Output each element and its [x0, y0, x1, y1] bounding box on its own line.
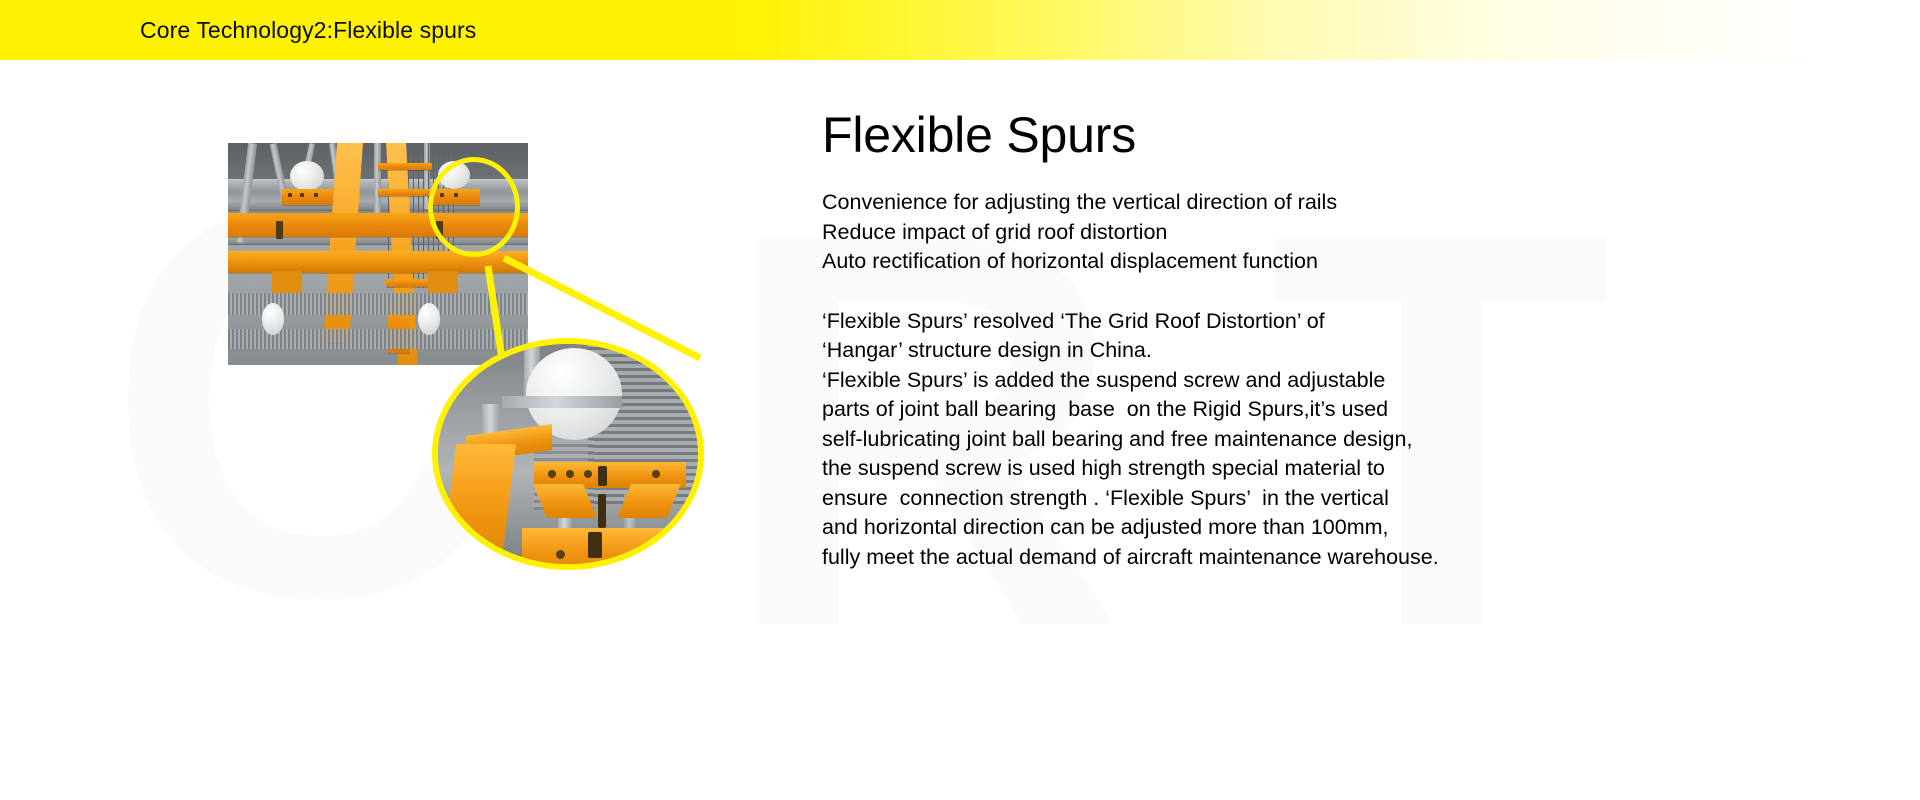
- header-title: Core Technology2:Flexible spurs: [140, 0, 476, 60]
- zoom-bolt: [652, 470, 660, 478]
- zoom-bolt: [644, 550, 653, 559]
- photo-catwalk-rail: [378, 189, 432, 196]
- description-line: ‘Hangar’ structure design in China.: [822, 336, 1522, 366]
- photo-end-truck: [272, 271, 302, 293]
- photo-bolt: [300, 193, 304, 197]
- description-line: parts of joint ball bearing base on the …: [822, 395, 1522, 425]
- zoom-suspend-screw: [598, 494, 606, 528]
- feature-list: Convenience for adjusting the vertical d…: [822, 188, 1522, 277]
- photo-column: [374, 143, 381, 223]
- feature-item: Auto rectification of horizontal displac…: [822, 247, 1522, 277]
- photo-lower-ball: [262, 303, 284, 335]
- highlight-ellipse: [428, 157, 520, 257]
- description-line: and horizontal direction can be adjusted…: [822, 513, 1522, 543]
- photo-end-truck: [428, 271, 458, 293]
- zoom-callout-photo: [432, 338, 704, 570]
- header-bar: Core Technology2:Flexible spurs: [0, 0, 1920, 60]
- zoom-bolt: [566, 470, 574, 478]
- description-line: the suspend screw is used high strength …: [822, 454, 1522, 484]
- zoom-bolt: [584, 470, 592, 478]
- photo-lower-ball: [418, 303, 440, 335]
- feature-item: Convenience for adjusting the vertical d…: [822, 188, 1522, 218]
- photo-fitting: [276, 221, 283, 239]
- page-title: Flexible Spurs: [822, 104, 1522, 166]
- photo-spur-ball: [290, 161, 324, 191]
- slide-root: C R T Core Technology2:Flexible spurs: [0, 0, 1920, 800]
- photo-catwalk-rail: [386, 279, 432, 287]
- zoom-trolley-body: [522, 528, 698, 570]
- photo-bolt: [288, 193, 292, 197]
- zoom-suspend-screw: [598, 466, 607, 486]
- feature-item: Reduce impact of grid roof distortion: [822, 218, 1522, 248]
- content-column: Flexible Spurs Convenience for adjusting…: [822, 104, 1522, 572]
- description-line: fully meet the actual demand of aircraft…: [822, 543, 1522, 573]
- description-line: ‘Flexible Spurs’ is added the suspend sc…: [822, 366, 1522, 396]
- zoom-bolt: [548, 470, 556, 478]
- description-block: ‘Flexible Spurs’ resolved ‘The Grid Roof…: [822, 307, 1522, 573]
- description-line: ensure connection strength . ‘Flexible S…: [822, 484, 1522, 514]
- photo-spur-bracket: [282, 189, 334, 205]
- description-line: ‘Flexible Spurs’ resolved ‘The Grid Roof…: [822, 307, 1522, 337]
- zoom-bolt: [556, 550, 565, 559]
- photo-bolt: [314, 193, 318, 197]
- zoom-fitting: [588, 532, 602, 558]
- description-line: self-lubricating joint ball bearing and …: [822, 425, 1522, 455]
- zoom-cross-rod: [502, 396, 622, 408]
- photo-catwalk-rail: [378, 163, 432, 170]
